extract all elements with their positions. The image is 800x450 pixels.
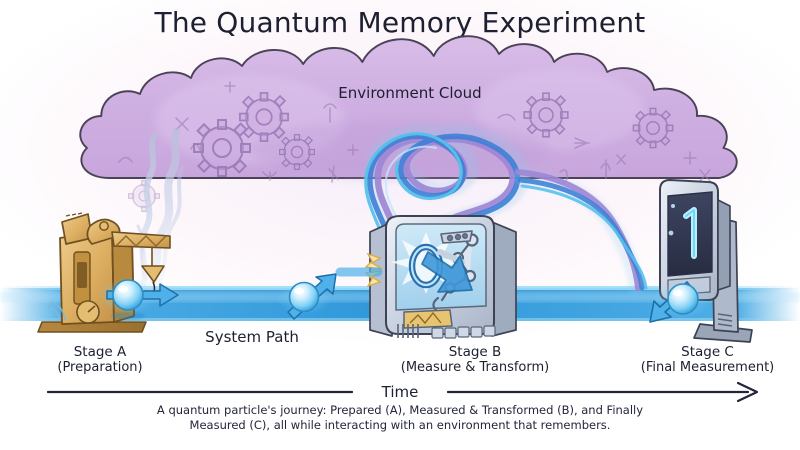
environment-cloud-label: Environment Cloud — [330, 84, 490, 102]
caption-line-1: A quantum particle's journey: Prepared (… — [80, 403, 720, 418]
stage-c-title: Stage C — [615, 345, 800, 360]
stage-b-subtitle: (Measure & Transform) — [375, 360, 575, 375]
stage-a-label: Stage A (Preparation) — [20, 345, 180, 375]
stage-a-subtitle: (Preparation) — [20, 360, 180, 375]
caption-line-2: Measured (C), all while interacting with… — [80, 418, 720, 433]
entanglement-ribbon-return — [518, 172, 646, 288]
stage-c-subtitle: (Final Measurement) — [615, 360, 800, 375]
figure-caption: A quantum particle's journey: Prepared (… — [80, 403, 720, 433]
stage-a-title: Stage A — [20, 345, 180, 360]
stage-b-title: Stage B — [375, 345, 575, 360]
system-path-label: System Path — [172, 328, 332, 346]
stage-c-label: Stage C (Final Measurement) — [615, 345, 800, 375]
diagram-canvas: The Quantum Memory Experiment — [0, 0, 800, 450]
stage-b-label: Stage B (Measure & Transform) — [375, 345, 575, 375]
time-axis-label: Time — [360, 383, 440, 401]
